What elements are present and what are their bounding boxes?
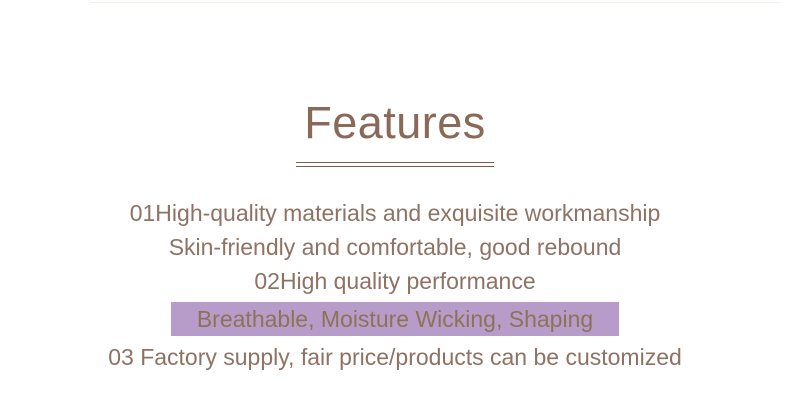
page-title: Features	[0, 97, 790, 149]
feature-item: Skin-friendly and comfortable, good rebo…	[0, 230, 790, 264]
feature-item-label: Skin-friendly and comfortable, good rebo…	[169, 230, 622, 264]
feature-item-label: Breathable, Moisture Wicking, Shaping	[171, 302, 619, 336]
divider-rule-top	[296, 162, 494, 163]
feature-item: 02High quality performance	[0, 264, 790, 298]
top-divider-hairline	[90, 2, 780, 3]
feature-item: 03 Factory supply, fair price/products c…	[0, 340, 790, 374]
heading-divider	[296, 162, 494, 168]
feature-list: 01High-quality materials and exquisite w…	[0, 196, 790, 374]
feature-item-highlighted: Breathable, Moisture Wicking, Shaping	[0, 298, 790, 340]
divider-rule-bottom	[296, 166, 494, 167]
feature-item-label: 01High-quality materials and exquisite w…	[130, 196, 661, 230]
feature-item: 01High-quality materials and exquisite w…	[0, 196, 790, 230]
feature-item-label: 03 Factory supply, fair price/products c…	[108, 340, 682, 374]
feature-item-label: 02High quality performance	[254, 264, 535, 298]
features-banner: Features 01High-quality materials and ex…	[0, 0, 790, 408]
